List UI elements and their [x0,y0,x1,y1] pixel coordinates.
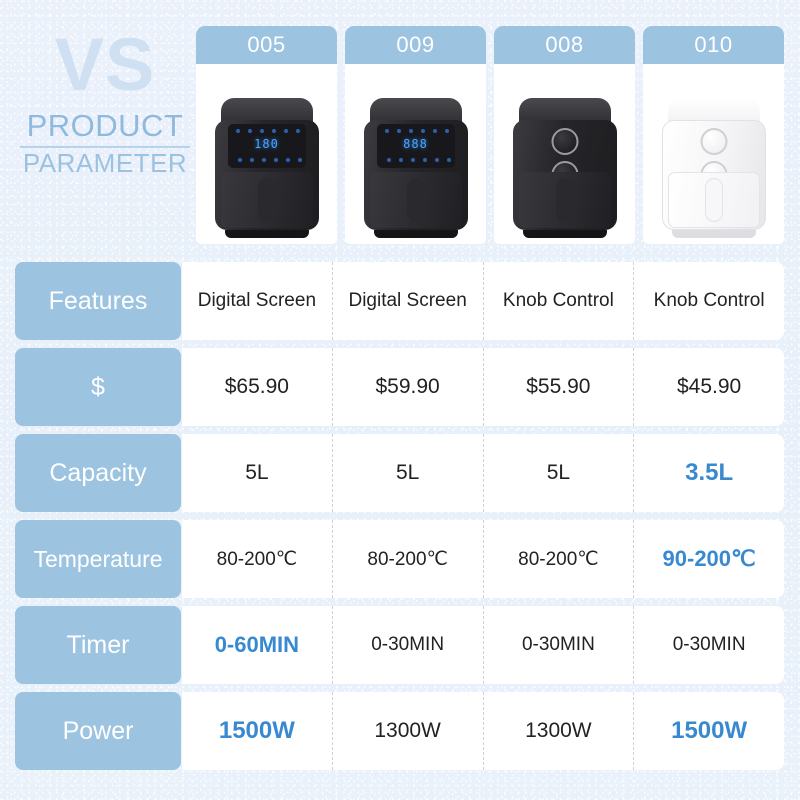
table-cell-highlighted: 1500W [182,692,333,770]
product-header-row: 005180009888008010 [196,26,784,244]
fryer-touch-buttons-top [377,127,455,136]
parameter-heading: PARAMETER [14,150,196,177]
table-cell: Knob Control [634,262,784,340]
table-cell-highlighted: 1500W [634,692,784,770]
table-row: FeaturesDigital ScreenDigital ScreenKnob… [15,262,784,340]
table-cell: 5L [333,434,484,512]
fryer-control-panel: 888 [377,124,455,168]
product-photo: 180 [196,64,337,244]
product-photo [494,64,635,244]
air-fryer-illustration: 888 [364,98,468,238]
product-column-005[interactable]: 005180 [196,26,337,244]
product-column-010[interactable]: 010 [643,26,784,244]
product-column-008[interactable]: 008 [494,26,635,244]
row-label: Power [15,692,181,770]
table-row: Power1500W1300W1300W1500W [15,692,784,770]
comparison-table: FeaturesDigital ScreenDigital ScreenKnob… [15,262,784,778]
comparison-page: VS PRODUCT PARAMETER 005180009888008010 … [0,0,800,800]
table-cell: 1300W [484,692,635,770]
table-cell: $45.90 [634,348,784,426]
product-photo [643,64,784,244]
table-row: Temperature80-200℃80-200℃80-200℃90-200℃ [15,520,784,598]
table-cell: 1300W [333,692,484,770]
brand-title-block: VS PRODUCT PARAMETER [14,30,196,177]
fryer-handle [705,178,723,222]
fryer-temperature-knob [551,128,578,155]
air-fryer-illustration [513,98,617,238]
fryer-feet [672,230,756,238]
product-heading: PRODUCT [14,110,196,143]
fryer-handle [258,178,276,222]
fryer-temperature-knob [700,128,727,155]
fryer-digital-screen: 888 [403,137,428,151]
table-cell: 80-200℃ [484,520,635,598]
table-cell-highlighted: 3.5L [634,434,784,512]
table-cell: 0-30MIN [634,606,784,684]
fryer-touch-buttons-bottom [377,156,455,165]
air-fryer-illustration: 180 [215,98,319,238]
table-cell-highlighted: 90-200℃ [634,520,784,598]
row-values: Digital ScreenDigital ScreenKnob Control… [182,262,784,340]
table-cell: $65.90 [182,348,333,426]
table-cell-highlighted: 0-60MIN [182,606,333,684]
table-cell: Knob Control [484,262,635,340]
fryer-handle [556,178,574,222]
product-code-tab[interactable]: 009 [345,26,486,64]
fryer-digital-screen: 180 [254,137,279,151]
table-cell: Digital Screen [182,262,333,340]
product-code-tab[interactable]: 008 [494,26,635,64]
product-code-tab[interactable]: 010 [643,26,784,64]
table-cell: 80-200℃ [182,520,333,598]
fryer-touch-buttons-top [228,127,306,136]
row-label: Features [15,262,181,340]
table-cell: $55.90 [484,348,635,426]
row-label: Capacity [15,434,181,512]
fryer-touch-buttons-bottom [228,156,306,165]
table-row: Capacity5L5L5L3.5L [15,434,784,512]
fryer-feet [225,230,309,238]
table-cell: Digital Screen [333,262,484,340]
table-cell: 5L [182,434,333,512]
row-label: Temperature [15,520,181,598]
product-code-tab[interactable]: 005 [196,26,337,64]
table-cell: $59.90 [333,348,484,426]
table-cell: 0-30MIN [333,606,484,684]
fryer-feet [523,230,607,238]
table-cell: 80-200℃ [333,520,484,598]
row-values: 0-60MIN0-30MIN0-30MIN0-30MIN [182,606,784,684]
product-photo: 888 [345,64,486,244]
table-row: Timer0-60MIN0-30MIN0-30MIN0-30MIN [15,606,784,684]
row-label: Timer [15,606,181,684]
fryer-feet [374,230,458,238]
row-values: 80-200℃80-200℃80-200℃90-200℃ [182,520,784,598]
row-values: 5L5L5L3.5L [182,434,784,512]
air-fryer-illustration [662,98,766,238]
table-cell: 5L [484,434,635,512]
table-row: $$65.90$59.90$55.90$45.90 [15,348,784,426]
fryer-control-panel: 180 [228,124,306,168]
row-values: $65.90$59.90$55.90$45.90 [182,348,784,426]
table-cell: 0-30MIN [484,606,635,684]
fryer-handle [407,178,425,222]
row-label: $ [15,348,181,426]
row-values: 1500W1300W1300W1500W [182,692,784,770]
product-column-009[interactable]: 009888 [345,26,486,244]
vs-logo: VS [14,30,196,100]
